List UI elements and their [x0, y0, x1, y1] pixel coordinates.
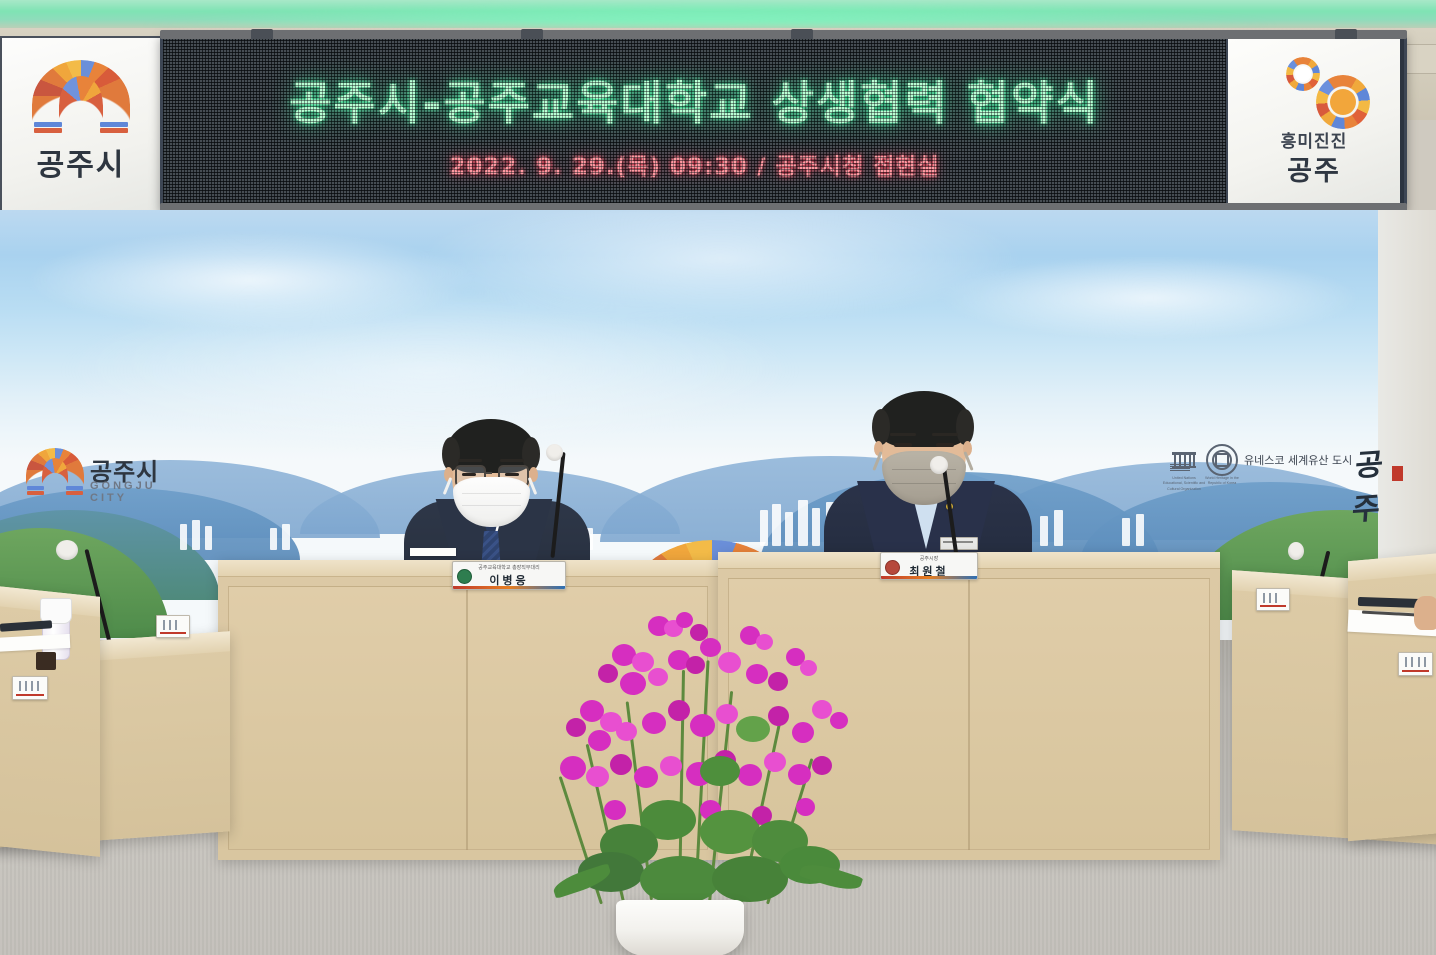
led-reflection-glow — [120, 0, 1300, 26]
led-subline-text: 2022. 9. 29.(목) 09:30 / 공주시청 접현실 — [163, 147, 1226, 181]
blossom — [800, 660, 817, 676]
blossom — [700, 638, 721, 657]
nameplate-right-org: 공주시장 — [881, 555, 977, 562]
building — [180, 524, 187, 550]
pinwheel-sunburst-icon — [1316, 75, 1370, 129]
name-badge — [940, 537, 978, 550]
blossom — [648, 668, 668, 686]
leaf — [700, 756, 740, 786]
unesco-heritage-text: 유네스코 세계유산 도시 — [1244, 452, 1352, 468]
led-display-board: 공주시-공주교육대학교 상생협력 협약식 2022. 9. 29.(목) 09:… — [160, 36, 1407, 212]
desk-nameplate — [12, 676, 48, 700]
red-seal-icon — [1392, 466, 1403, 481]
hand-far-right-person — [1414, 596, 1436, 630]
desk-nameplate — [1256, 588, 1290, 611]
mic-windscreen-right — [930, 456, 948, 474]
led-screen: 공주시-공주교육대학교 상생협력 협약식 2022. 9. 29.(목) 09:… — [163, 39, 1226, 203]
building — [1122, 518, 1130, 546]
blossom — [718, 652, 741, 673]
mic-windscreen-left — [546, 444, 563, 461]
gongju-arch-icon — [26, 448, 84, 492]
blossom — [788, 764, 811, 785]
building — [1054, 510, 1063, 546]
building — [205, 526, 212, 550]
blossom — [634, 766, 658, 788]
eye-right — [505, 473, 519, 476]
building — [812, 508, 820, 546]
foreground-table-far-right — [1348, 551, 1436, 841]
led-top-rail — [160, 30, 1407, 39]
left-logo-panel: 공주시 — [0, 36, 162, 212]
blossom — [620, 672, 646, 695]
document-left-table — [410, 548, 456, 556]
unesco-temple-icon — [1168, 444, 1198, 474]
leaf — [700, 810, 760, 854]
blossom — [642, 712, 666, 734]
mic-windscreen — [56, 540, 78, 560]
blossom — [566, 718, 586, 737]
blossom — [690, 714, 715, 737]
led-headline-text: 공주시-공주교육대학교 상생협력 협약식 — [163, 67, 1226, 133]
world-heritage-icon — [1206, 444, 1238, 476]
blossom — [716, 704, 738, 724]
building — [1136, 514, 1144, 546]
blossom — [738, 764, 762, 786]
blossom — [764, 752, 786, 772]
blossom — [756, 634, 773, 650]
blossom — [604, 800, 626, 820]
eyebrow-right — [500, 459, 524, 462]
hair-side-right — [956, 409, 974, 445]
blossom — [768, 672, 788, 691]
unesco-caption-2: World Heritage in the Republic of Korea — [1204, 476, 1240, 487]
nameplate-left-org: 공주교육대학교 총장직무대리 — [453, 564, 565, 571]
eye-left — [894, 443, 912, 447]
leaf — [640, 856, 720, 904]
nameplate-left: 공주교육대학교 총장직무대리 이병응 — [452, 561, 566, 590]
wooden-block — [36, 652, 56, 670]
leaf — [712, 856, 788, 902]
blossom — [610, 754, 632, 775]
leaf — [736, 716, 770, 742]
backdrop-logo-en: GONGJU CITY — [90, 480, 182, 504]
blossom — [792, 722, 814, 743]
unesco-heritage-block: United Nations Educational, Scientific a… — [1168, 442, 1368, 494]
mic-windscreen — [1288, 542, 1304, 560]
brand-city-name: 공주 — [1228, 149, 1400, 188]
blossom — [560, 756, 586, 780]
blossom — [668, 700, 690, 721]
brand-side-panel: 흥미진진 공주 — [1226, 39, 1400, 203]
unesco-caption-1: United Nations Educational, Scientific a… — [1162, 476, 1206, 492]
mask-strap-left — [443, 477, 453, 495]
blossom — [812, 700, 832, 719]
blossom — [746, 664, 768, 684]
blossom — [796, 798, 815, 816]
desk-nameplate — [1398, 652, 1433, 676]
blossom — [830, 712, 848, 729]
building — [1040, 516, 1048, 546]
building — [192, 520, 200, 550]
backdrop-clouds — [0, 210, 1436, 460]
blossom — [812, 756, 832, 775]
blossom — [686, 656, 705, 674]
building — [270, 528, 277, 550]
briefing-room-photo: 공주시 공주시-공주교육대학교 상생협력 협약식 2022. 9. 29.(목)… — [0, 0, 1436, 955]
blossom — [586, 766, 609, 787]
blossom — [660, 756, 682, 776]
eyebrow-left — [890, 433, 916, 436]
ceramic-flower-pot — [616, 900, 744, 955]
eye-right — [936, 443, 954, 447]
blossom — [588, 730, 611, 751]
blossom — [632, 652, 654, 672]
backdrop-gongju-logo: 공주시 GONGJU CITY — [22, 446, 172, 508]
nameplate-right: 공주시장 최원철 — [880, 552, 978, 580]
blossom — [676, 612, 693, 628]
blossom — [768, 706, 789, 726]
eyebrow-right — [932, 433, 958, 436]
building — [282, 524, 290, 550]
blossom — [598, 664, 618, 683]
gongju-arch-icon — [32, 60, 130, 132]
eyebrow-left — [458, 459, 482, 462]
left-panel-city-label: 공주시 — [2, 140, 160, 184]
blossom — [616, 722, 637, 741]
pinwheel-sunburst-icon — [1286, 57, 1320, 91]
eye-left — [462, 473, 476, 476]
eyeglasses-bridge — [484, 472, 492, 474]
hair-side-left — [872, 409, 890, 445]
desk-nameplate — [156, 615, 190, 638]
